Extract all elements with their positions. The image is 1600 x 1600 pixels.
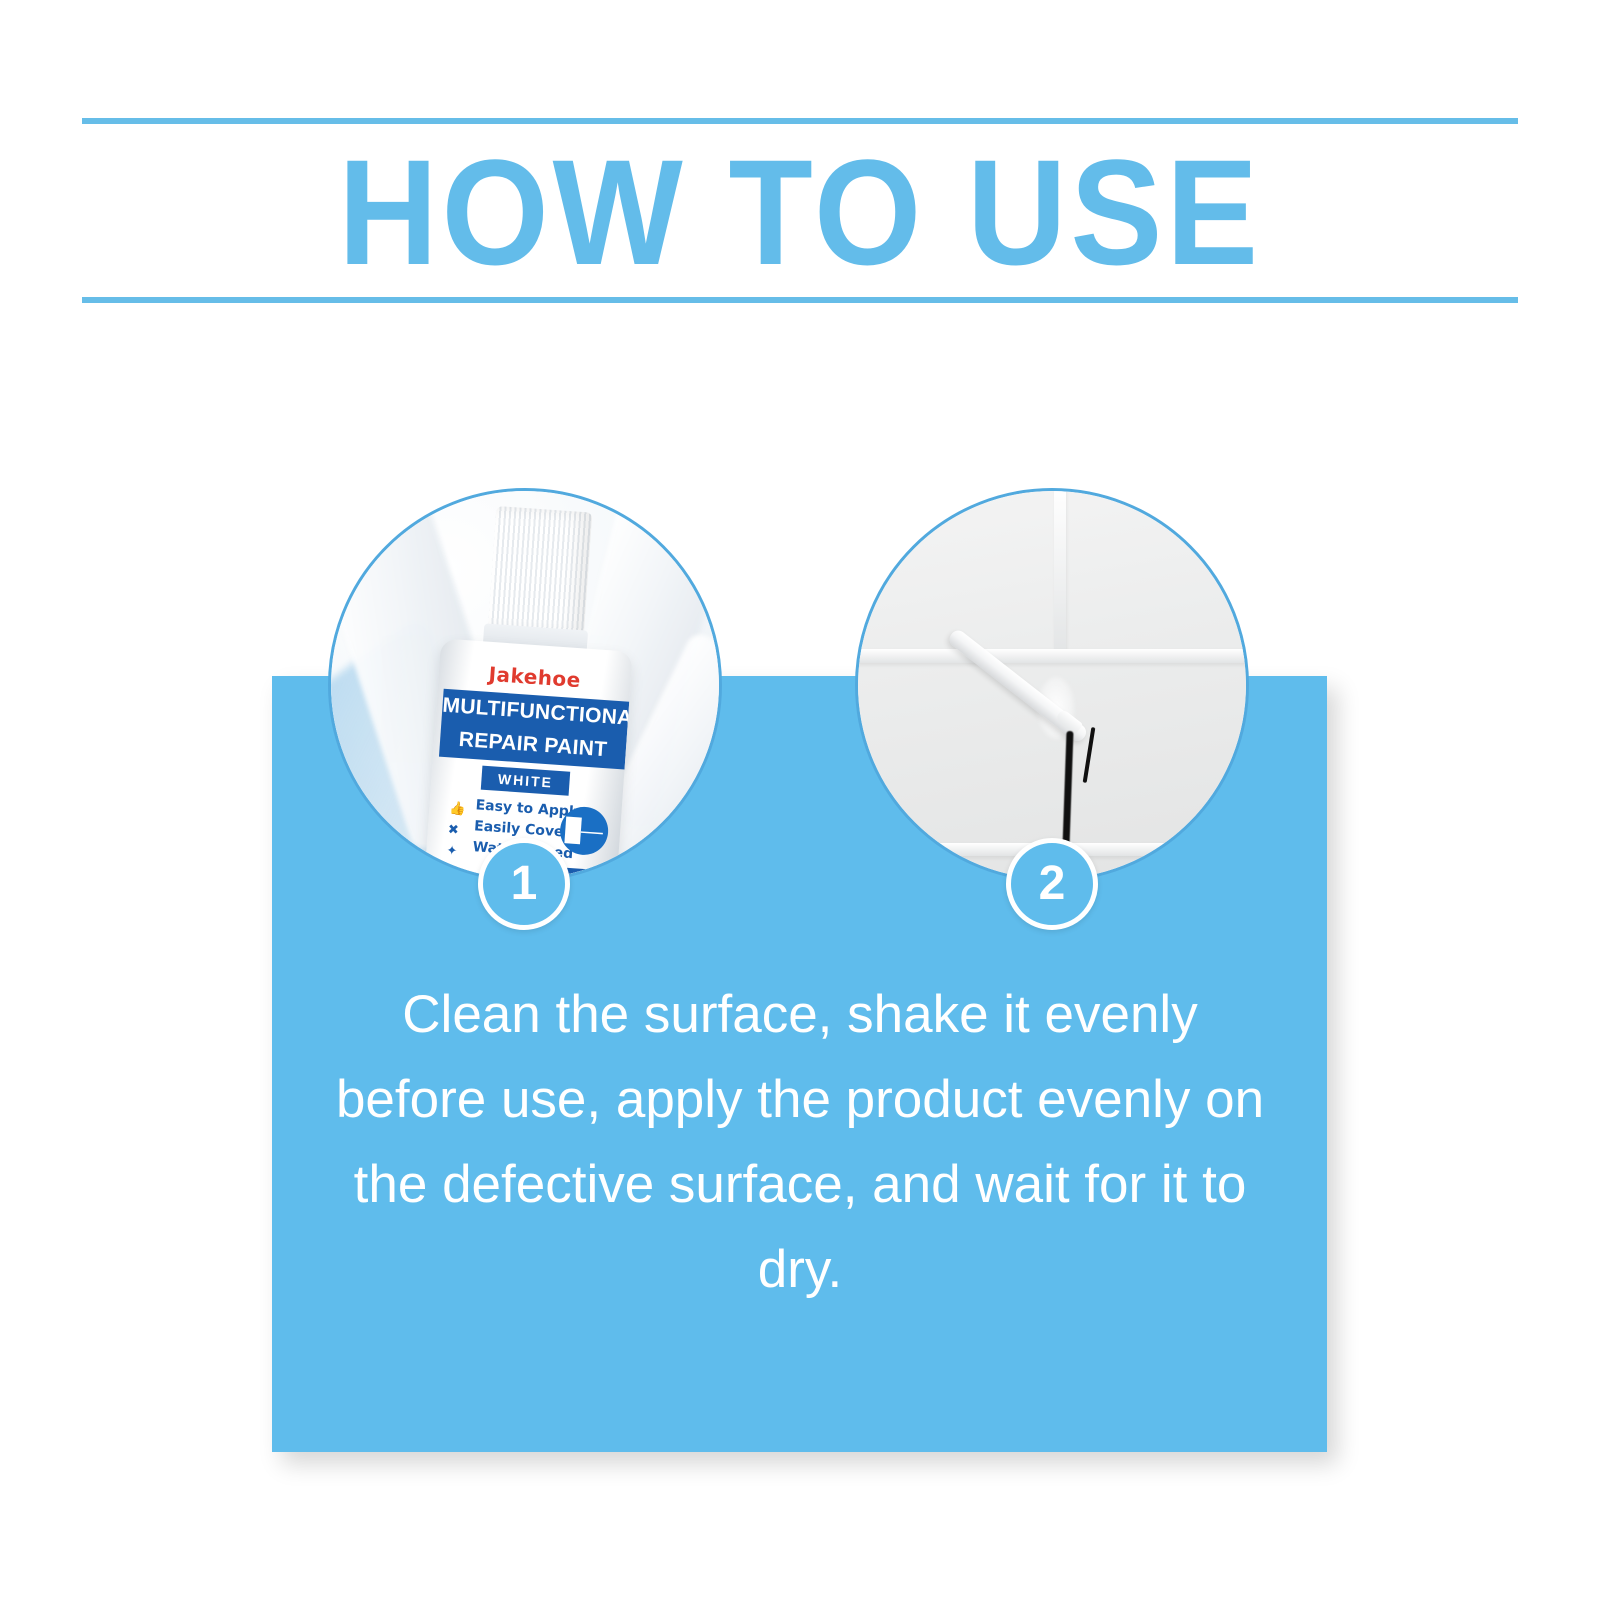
feature-icon-group: 👍 ✖ ✦ <box>446 797 467 861</box>
product-title-band: MULTIFUNCTIONAL REPAIR PAINT <box>439 689 629 770</box>
header: HOW TO USE <box>82 118 1518 303</box>
step-badge-2: 2 <box>1006 838 1098 930</box>
tools-icon: ✖ <box>447 818 465 840</box>
instruction-text: Clean the surface, shake it evenly befor… <box>330 972 1270 1312</box>
grout-line-vertical <box>1054 491 1066 659</box>
step-image-1-frame: Jakehoe MULTIFUNCTIONAL REPAIR PAINT WHI… <box>331 491 719 879</box>
product-bottle-photo: Jakehoe MULTIFUNCTIONAL REPAIR PAINT WHI… <box>331 491 719 879</box>
thumbs-up-icon: 👍 <box>449 797 467 819</box>
tile-scratch-repair-photo <box>858 491 1246 879</box>
step-image-1: Jakehoe MULTIFUNCTIONAL REPAIR PAINT WHI… <box>328 488 722 882</box>
page-title: HOW TO USE <box>139 132 1460 292</box>
drop-icon: ✦ <box>446 839 464 861</box>
bottle-cap <box>488 506 592 636</box>
grout-line-horizontal-top <box>858 649 1246 663</box>
header-rule-bottom <box>82 297 1518 303</box>
step-badge-1: 1 <box>478 838 570 930</box>
header-rule-top <box>82 118 1518 124</box>
infographic-canvas: HOW TO USE Jakehoe MULTIFUNCTIONAL <box>0 0 1600 1600</box>
product-bottle: Jakehoe MULTIFUNCTIONAL REPAIR PAINT WHI… <box>416 502 650 879</box>
step-image-2 <box>855 488 1249 882</box>
color-variant-chip: WHITE <box>481 766 570 796</box>
step-image-2-frame <box>858 491 1246 879</box>
